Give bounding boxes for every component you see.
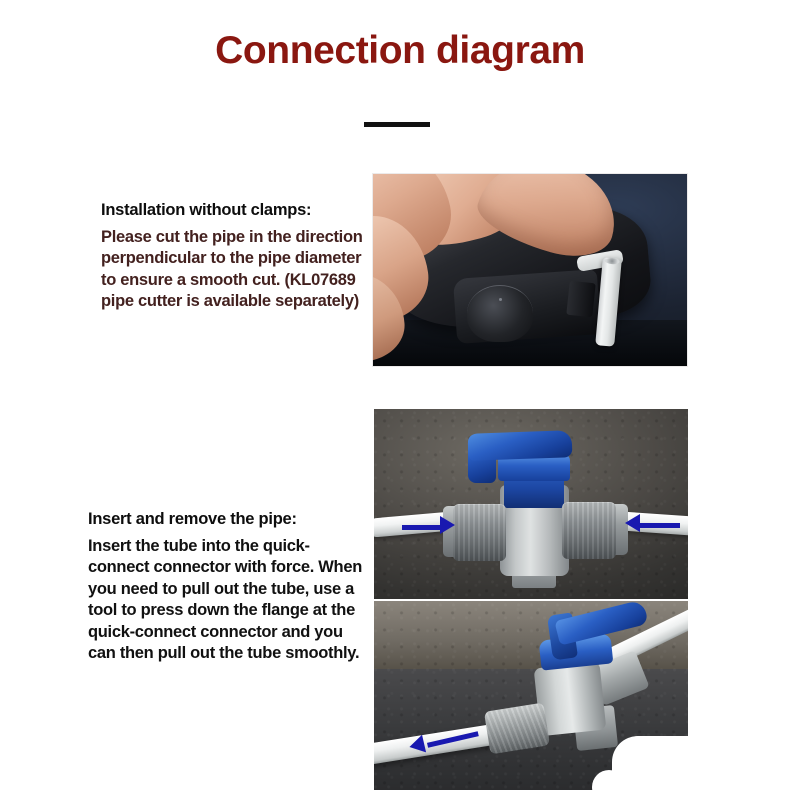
page-title: Connection diagram xyxy=(0,30,800,73)
section-installation-without-clamps: Installation without clamps: Please cut … xyxy=(101,200,369,313)
section-insert-and-remove-the-pipe: Insert and remove the pipe: Insert the t… xyxy=(88,509,363,664)
pipe-cutter-blade xyxy=(566,280,595,317)
quick-connect-fitting-right xyxy=(562,502,615,559)
installation-body-text: Please cut the pipe in the direction per… xyxy=(101,227,369,313)
insert-remove-body-text: Insert the tube into the quick-connect c… xyxy=(88,536,363,665)
quick-connect-fitting-left xyxy=(453,504,506,561)
pipe-cutter-wheel xyxy=(467,285,533,342)
title-divider xyxy=(364,122,430,127)
valve-handle-lever xyxy=(468,430,572,460)
insert-remove-heading: Insert and remove the pipe: xyxy=(88,509,363,530)
insert-pipe-photo xyxy=(374,409,688,599)
installation-heading: Installation without clamps: xyxy=(101,200,369,221)
page-root: Connection diagram Installation without … xyxy=(0,0,800,800)
pipe-cutter-photo xyxy=(372,173,688,367)
remove-pipe-photo xyxy=(374,601,688,790)
